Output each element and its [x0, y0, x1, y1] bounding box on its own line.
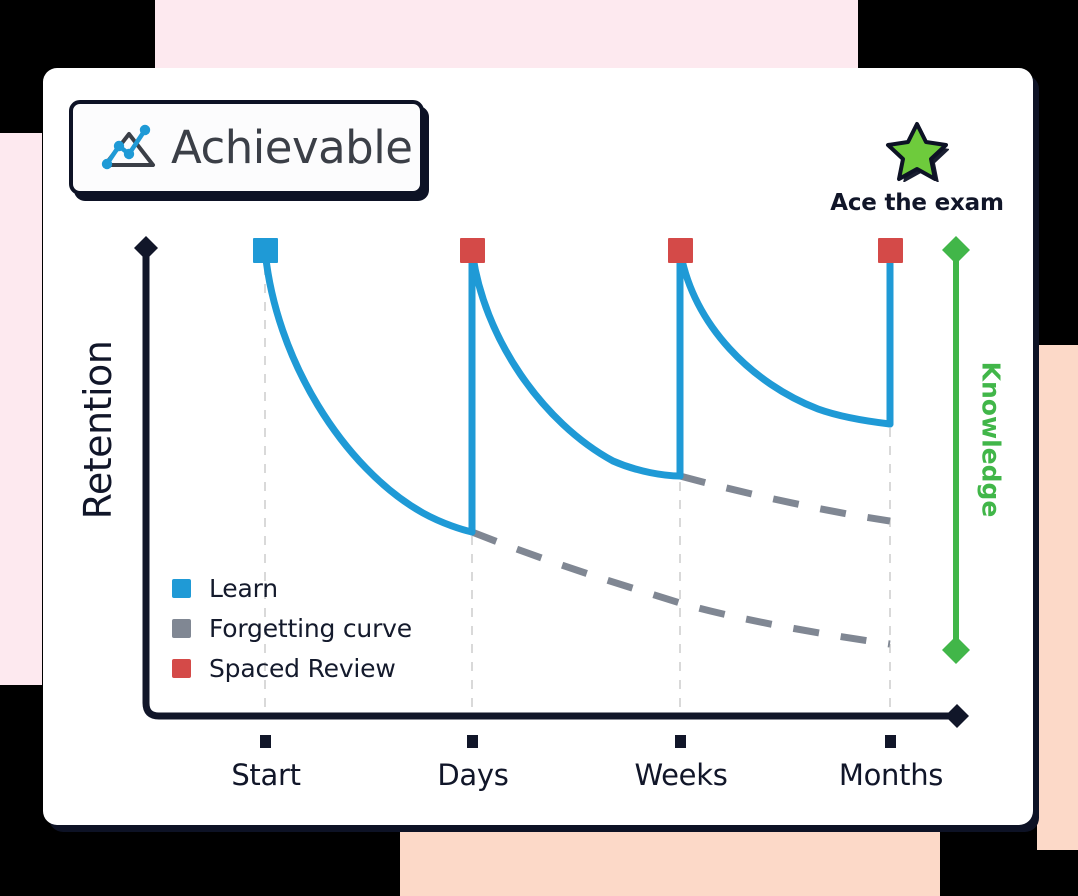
knowledge-arrow-head-top — [942, 236, 970, 264]
retention-chart-plot — [43, 68, 1033, 825]
legend-swatch-learn — [172, 579, 191, 598]
x-tick-days — [467, 735, 478, 748]
x-tick-weeks — [675, 735, 686, 748]
legend-label-forgetting-curve: Forgetting curve — [209, 614, 412, 643]
chart-markers — [253, 238, 903, 263]
legend-swatch-spaced-review — [172, 659, 191, 678]
decorative-block-peach-right — [1037, 345, 1078, 850]
marker-review-weeks[interactable] — [668, 238, 693, 263]
x-axis-label-start: Start — [176, 758, 356, 792]
decorative-block-peach-bottom — [400, 832, 940, 896]
x-tick-start — [260, 735, 271, 748]
curve-learn-decay — [265, 250, 472, 532]
curve-review-1-decay — [472, 250, 680, 476]
decorative-block-pink-top — [155, 0, 858, 68]
marker-review-days[interactable] — [460, 238, 485, 263]
knowledge-annotation-arrow — [942, 236, 970, 664]
x-axis-label-months: Months — [801, 758, 981, 792]
legend-label-spaced-review: Spaced Review — [209, 654, 396, 683]
forgetting-curve-after-review-1 — [680, 476, 890, 521]
legend-item-forgetting-curve[interactable]: Forgetting curve — [172, 608, 412, 648]
x-axis-label-weeks: Weeks — [591, 758, 771, 792]
legend-label-learn: Learn — [209, 574, 278, 603]
x-axis-arrowhead — [945, 704, 969, 728]
legend-item-spaced-review[interactable]: Spaced Review — [172, 648, 412, 688]
x-axis-ticks — [260, 735, 896, 748]
chart-legend: Learn Forgetting curve Spaced Review — [172, 568, 412, 688]
chart-card: Achievable Ace the exam — [43, 68, 1033, 825]
y-axis-title: Retention — [76, 320, 120, 540]
retention-curves — [265, 250, 890, 532]
marker-review-months[interactable] — [878, 238, 903, 263]
y-axis-arrowhead — [134, 236, 158, 260]
knowledge-arrow-head-bottom — [942, 636, 970, 664]
legend-item-learn[interactable]: Learn — [172, 568, 412, 608]
knowledge-annotation-label: Knowledge — [977, 345, 1006, 535]
curve-review-2-decay — [680, 250, 890, 424]
x-axis-label-days: Days — [383, 758, 563, 792]
decorative-block-pink-left — [0, 133, 42, 685]
x-tick-months — [885, 735, 896, 748]
legend-swatch-forgetting-curve — [172, 619, 191, 638]
marker-learn-start[interactable] — [253, 238, 278, 263]
